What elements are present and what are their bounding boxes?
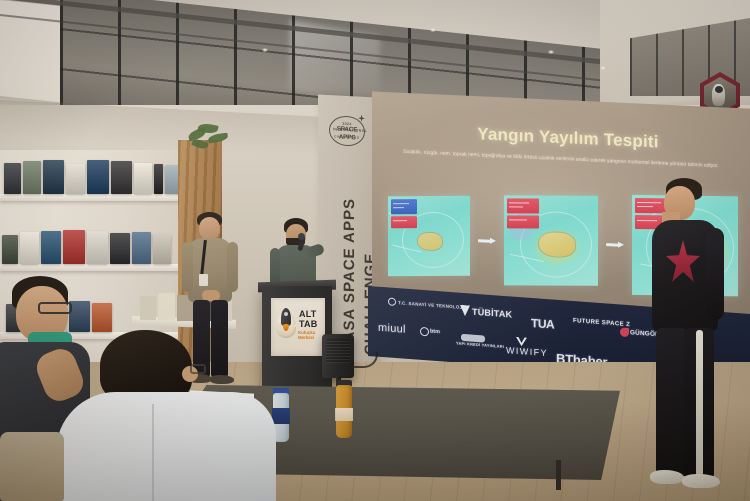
badge bbox=[199, 274, 208, 286]
book-item bbox=[111, 161, 132, 194]
book-item bbox=[110, 233, 130, 264]
book-item bbox=[87, 231, 108, 264]
ceiling-downlight bbox=[430, 28, 436, 32]
ministry-mark-icon bbox=[388, 297, 396, 306]
arm-left bbox=[270, 248, 280, 286]
book-item bbox=[41, 231, 61, 264]
book-item bbox=[132, 232, 151, 264]
map-panel-1 bbox=[388, 196, 470, 277]
astronaut-icon bbox=[712, 84, 725, 106]
pa-speaker bbox=[322, 334, 354, 378]
alt-tab-brand: ALT TAB bbox=[299, 310, 323, 329]
sponsor-miuul: miuul bbox=[378, 322, 406, 336]
eyeglasses-arm bbox=[190, 364, 206, 374]
shoe-right bbox=[682, 474, 720, 488]
arm-left bbox=[182, 242, 193, 292]
book-item bbox=[134, 163, 152, 194]
book-item bbox=[20, 232, 39, 264]
plant-leaf bbox=[191, 137, 209, 150]
book-item bbox=[87, 160, 109, 194]
ceiling-downlight bbox=[262, 48, 268, 52]
alt-tab-tagline: Kuluçka Merkezi bbox=[298, 330, 324, 340]
table-leg bbox=[556, 460, 561, 490]
sponsor-futurespace-line1: FUTURE SPACE Z bbox=[573, 318, 630, 328]
book-item bbox=[2, 235, 18, 264]
burn-area bbox=[538, 232, 576, 258]
shirt-seam bbox=[152, 404, 154, 501]
arm-right bbox=[227, 242, 238, 292]
chair-back bbox=[0, 432, 64, 501]
map-panel-2 bbox=[504, 195, 598, 285]
book-item bbox=[153, 234, 171, 264]
ice-tea-bottle bbox=[336, 380, 352, 438]
book-item bbox=[23, 161, 41, 194]
presentation-room-photo: 2024 INTERNATIONAL SPACE A CHALLENGE bbox=[0, 0, 750, 501]
arm-right bbox=[706, 228, 724, 320]
pants-side-stripe bbox=[696, 330, 703, 476]
arrow-right-icon bbox=[478, 237, 497, 245]
tubitak-mark-icon bbox=[460, 305, 470, 317]
legend-blue bbox=[391, 199, 417, 214]
arrow-right-icon bbox=[606, 241, 625, 249]
ceiling-downlight bbox=[600, 66, 606, 70]
banner-line-1: NASA SPACE APPS bbox=[342, 198, 357, 355]
sponsor-yapikredi: YAPI KREDİ YAYINLARI bbox=[456, 341, 504, 349]
book-item bbox=[66, 164, 85, 194]
brochure-item bbox=[140, 296, 156, 320]
potted-plant bbox=[186, 122, 232, 156]
audience-white-shirt bbox=[56, 330, 286, 501]
legend-red bbox=[507, 198, 539, 213]
shelf-board bbox=[0, 194, 182, 201]
eyeglasses bbox=[38, 302, 72, 314]
sponsor-btm: btm bbox=[430, 329, 440, 336]
space-apps-logo-icon: 2024 INTERNATIONAL SPACE APPS CHALLENGE bbox=[327, 111, 367, 151]
shelf-row-2 bbox=[0, 228, 182, 264]
leg-left bbox=[656, 328, 687, 476]
legend-red bbox=[507, 215, 539, 228]
attendee-hoodie bbox=[652, 178, 736, 496]
book-item bbox=[154, 164, 163, 194]
plant-leaf bbox=[208, 133, 229, 144]
sponsor-tua: TUA bbox=[531, 316, 554, 332]
brochure-item bbox=[158, 293, 175, 320]
shoe-left bbox=[650, 470, 684, 484]
tagline-line-2: Merkezi bbox=[298, 335, 324, 340]
brand-line-2: TAB bbox=[299, 320, 323, 330]
legend-red bbox=[391, 216, 417, 228]
book-item bbox=[63, 230, 85, 264]
head bbox=[199, 217, 220, 240]
book-item bbox=[43, 160, 64, 194]
shelf-row-1 bbox=[0, 158, 182, 194]
ceiling-downlight bbox=[548, 50, 554, 54]
shelf-board bbox=[0, 264, 182, 271]
sponsor-wiwify: WIWIFY bbox=[506, 345, 548, 358]
sponsor-tubitak: TÜBİTAK bbox=[472, 307, 512, 320]
burn-area bbox=[417, 232, 443, 251]
white-shirt bbox=[56, 392, 276, 501]
book-item bbox=[4, 163, 21, 194]
sponsor-ministry: T.C. SANAYİ VE TEKNOLOJİ bbox=[398, 300, 464, 310]
microphone-head bbox=[298, 233, 305, 240]
btm-mark-icon bbox=[420, 327, 429, 337]
gungoren-mark-icon bbox=[620, 327, 629, 337]
bottle-label bbox=[335, 408, 353, 421]
